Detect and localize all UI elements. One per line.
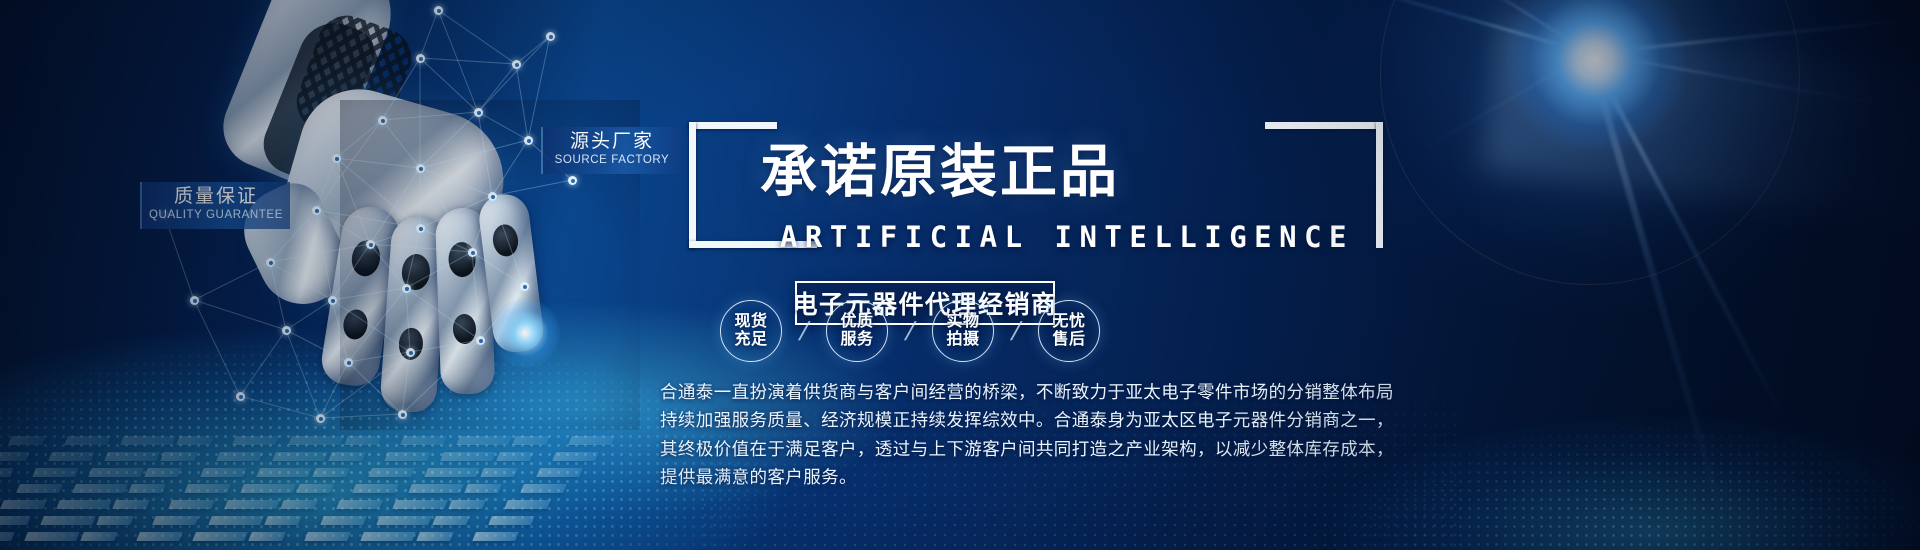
promo-banner: 质量保证 QUALITY GUARANTEE 源头厂家 SOURCE FACTO…: [0, 0, 1920, 550]
vignette-overlay: [0, 0, 1920, 550]
